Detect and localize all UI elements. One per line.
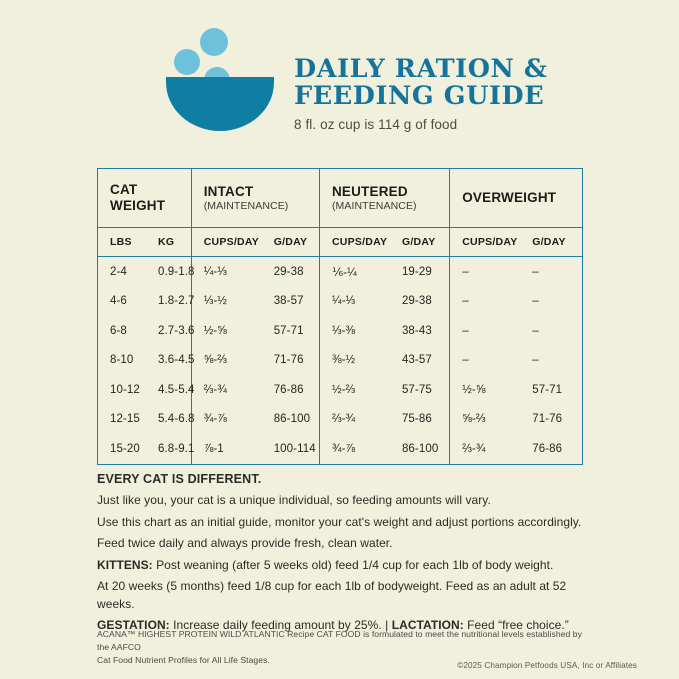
cell-intact: ⅓-½ 38-57 — [191, 287, 319, 317]
group-header-cat-weight: CAT WEIGHT — [98, 169, 191, 228]
cell-neutered: ½-⅔ 57-75 — [319, 375, 449, 405]
cell-overweight-grams: – — [532, 266, 582, 278]
cell-intact-grams: 29-38 — [274, 266, 319, 278]
cell-kg: 6.8-9.1 — [158, 443, 195, 455]
subheader-neutered: CUPS/DAY G/DAY — [319, 228, 449, 257]
cell-overweight-cups: – — [462, 354, 532, 366]
cell-neutered-cups: ¾-⅞ — [332, 443, 402, 455]
cell-kg: 5.4-6.8 — [158, 413, 195, 425]
cell-overweight-grams: 57-71 — [532, 384, 582, 396]
table-row: 10-12 4.5-5.4 ⅔-¾ 76-86 ½-⅔ 57-75 ½-⅝ 57… — [98, 375, 582, 405]
cell-overweight-cups: ½-⅝ — [462, 384, 532, 396]
table-row: 4-6 1.8-2.7 ⅓-½ 38-57 ¼-⅓ 29-38 – – — [98, 287, 582, 317]
cell-intact-cups: ¾-⅞ — [204, 413, 274, 425]
cell-overweight-grams: 71-76 — [532, 413, 582, 425]
cell-intact-cups: ⅔-¾ — [204, 384, 274, 396]
kittens-label: KITTENS: — [97, 558, 153, 572]
page-title-line-1: DAILY RATION & — [294, 56, 548, 83]
cell-intact: ½-⅝ 57-71 — [191, 316, 319, 346]
cell-intact: ¼-⅓ 29-38 — [191, 257, 319, 287]
cell-intact: ⅔-¾ 76-86 — [191, 375, 319, 405]
bubble-icon-2 — [174, 49, 200, 75]
cell-cat-weight: 12-15 5.4-6.8 — [98, 405, 191, 435]
notes-line-1: Just like you, your cat is a unique indi… — [97, 492, 589, 510]
cell-intact-grams: 100-114 — [274, 443, 319, 455]
cell-overweight: – – — [450, 346, 582, 376]
column-header-cups-day: CUPS/DAY — [332, 236, 402, 248]
cell-cat-weight: 15-20 6.8-9.1 — [98, 434, 191, 464]
cell-intact-cups: ¼-⅓ — [204, 266, 274, 278]
group-title: NEUTERED — [332, 184, 449, 200]
kittens-note: KITTENS: Post weaning (after 5 weeks old… — [97, 557, 589, 575]
bubble-icon-1 — [200, 28, 228, 56]
cell-neutered-grams: 43-57 — [402, 354, 449, 366]
cell-lbs: 10-12 — [110, 384, 158, 396]
cell-intact-cups: ⅓-½ — [204, 295, 274, 307]
cell-lbs: 8-10 — [110, 354, 158, 366]
cell-kg: 1.8-2.7 — [158, 295, 195, 307]
cell-overweight: – – — [450, 316, 582, 346]
page-subtitle: 8 fl. oz cup is 114 g of food — [294, 117, 548, 132]
column-header-cups-day: CUPS/DAY — [462, 236, 532, 248]
table-row: 6-8 2.7-3.6 ½-⅝ 57-71 ⅓-⅜ 38-43 – – — [98, 316, 582, 346]
cell-overweight-grams: – — [532, 325, 582, 337]
table-row: 15-20 6.8-9.1 ⅞-1 100-114 ¾-⅞ 86-100 ⅔-¾… — [98, 434, 582, 464]
cell-lbs: 12-15 — [110, 413, 158, 425]
cell-intact: ⅞-1 100-114 — [191, 434, 319, 464]
table-row: 2-4 0.9-1.8 ¼-⅓ 29-38 ⅙-¼ 19-29 – – — [98, 257, 582, 287]
cell-neutered: ⅔-¾ 75-86 — [319, 405, 449, 435]
notes-line-3: Feed twice daily and always provide fres… — [97, 535, 589, 553]
cell-overweight: ⅝-⅔ 71-76 — [450, 405, 582, 435]
cell-lbs: 4-6 — [110, 295, 158, 307]
cell-kg: 0.9-1.8 — [158, 266, 195, 278]
cell-overweight-cups: ⅝-⅔ — [462, 413, 532, 425]
column-header-g-day: G/DAY — [402, 236, 449, 248]
cell-cat-weight: 8-10 3.6-4.5 — [98, 346, 191, 376]
group-title-2: WEIGHT — [110, 198, 191, 214]
cat-food-bowl-icon — [160, 22, 290, 142]
cell-cat-weight: 2-4 0.9-1.8 — [98, 257, 191, 287]
cell-overweight: – – — [450, 287, 582, 317]
cell-cat-weight: 10-12 4.5-5.4 — [98, 375, 191, 405]
title-block: DAILY RATION & FEEDING GUIDE 8 fl. oz cu… — [294, 22, 548, 132]
cell-overweight-cups: – — [462, 266, 532, 278]
cell-neutered-cups: ½-⅔ — [332, 384, 402, 396]
cell-neutered-cups: ⅔-¾ — [332, 413, 402, 425]
cell-intact-grams: 71-76 — [274, 354, 319, 366]
cell-intact-cups: ½-⅝ — [204, 325, 274, 337]
table-subheader-row: LBS KG CUPS/DAY G/DAY CUPS/DAY G/DAY — [98, 228, 582, 257]
cell-neutered-cups: ⅙-¼ — [332, 265, 402, 279]
column-header-g-day: G/DAY — [532, 236, 582, 248]
kittens-note-line-2: At 20 weeks (5 months) feed 1/8 cup for … — [97, 578, 589, 613]
cell-overweight: ⅔-¾ 76-86 — [450, 434, 582, 464]
column-header-lbs: LBS — [110, 236, 158, 248]
cell-neutered-grams: 86-100 — [402, 443, 449, 455]
column-header-cups-day: CUPS/DAY — [204, 236, 274, 248]
fineprint-line-1: ACANA™ HIGHEST PROTEIN WILD ATLANTIC Rec… — [97, 628, 589, 654]
cell-neutered-grams: 29-38 — [402, 295, 449, 307]
cell-neutered: ¼-⅓ 29-38 — [319, 287, 449, 317]
cell-neutered-grams: 19-29 — [402, 266, 449, 278]
feeding-table: CAT WEIGHT INTACT (MAINTENANCE) NEUTERED… — [98, 169, 582, 464]
cell-lbs: 6-8 — [110, 325, 158, 337]
cell-intact-grams: 76-86 — [274, 384, 319, 396]
cell-overweight-cups: – — [462, 325, 532, 337]
cell-kg: 4.5-5.4 — [158, 384, 195, 396]
cell-neutered-cups: ⅓-⅜ — [332, 325, 402, 337]
table-row: 8-10 3.6-4.5 ⅝-⅔ 71-76 ⅜-½ 43-57 – – — [98, 346, 582, 376]
cell-cat-weight: 6-8 2.7-3.6 — [98, 316, 191, 346]
cell-overweight: ½-⅝ 57-71 — [450, 375, 582, 405]
cell-intact-grams: 86-100 — [274, 413, 319, 425]
cell-intact: ⅝-⅔ 71-76 — [191, 346, 319, 376]
group-title: OVERWEIGHT — [462, 190, 582, 206]
group-title: INTACT — [204, 184, 319, 200]
group-header-overweight: OVERWEIGHT — [450, 169, 582, 228]
cell-neutered: ⅜-½ 43-57 — [319, 346, 449, 376]
feeding-table-container: CAT WEIGHT INTACT (MAINTENANCE) NEUTERED… — [97, 168, 583, 465]
copyright-text: ©2025 Champion Petfoods USA, Inc or Affi… — [457, 661, 637, 670]
cell-neutered-grams: 38-43 — [402, 325, 449, 337]
group-subtitle: (MAINTENANCE) — [204, 200, 319, 212]
table-group-header-row: CAT WEIGHT INTACT (MAINTENANCE) NEUTERED… — [98, 169, 582, 228]
cell-overweight-grams: – — [532, 295, 582, 307]
cell-overweight-cups: ⅔-¾ — [462, 443, 532, 455]
cell-neutered-grams: 75-86 — [402, 413, 449, 425]
group-subtitle: (MAINTENANCE) — [332, 200, 449, 212]
cell-lbs: 15-20 — [110, 443, 158, 455]
page-title-line-2: FEEDING GUIDE — [294, 83, 548, 110]
cell-neutered: ¾-⅞ 86-100 — [319, 434, 449, 464]
group-title: CAT — [110, 182, 191, 198]
notes-line-2: Use this chart as an initial guide, moni… — [97, 514, 589, 532]
cell-neutered-cups: ⅜-½ — [332, 354, 402, 366]
notes-heading: EVERY CAT IS DIFFERENT. — [97, 472, 589, 486]
column-header-kg: KG — [158, 236, 191, 248]
table-row: 12-15 5.4-6.8 ¾-⅞ 86-100 ⅔-¾ 75-86 ⅝-⅔ 7… — [98, 405, 582, 435]
cell-intact-cups: ⅞-1 — [204, 443, 274, 455]
cell-kg: 2.7-3.6 — [158, 325, 195, 337]
subheader-cat-weight: LBS KG — [98, 228, 191, 257]
subheader-overweight: CUPS/DAY G/DAY — [450, 228, 582, 257]
cell-overweight-grams: 76-86 — [532, 443, 582, 455]
subheader-intact: CUPS/DAY G/DAY — [191, 228, 319, 257]
column-header-g-day: G/DAY — [274, 236, 319, 248]
cell-neutered-grams: 57-75 — [402, 384, 449, 396]
cell-intact-grams: 38-57 — [274, 295, 319, 307]
cell-overweight-cups: – — [462, 295, 532, 307]
group-header-intact: INTACT (MAINTENANCE) — [191, 169, 319, 228]
page-header: DAILY RATION & FEEDING GUIDE 8 fl. oz cu… — [0, 0, 679, 140]
cell-overweight-grams: – — [532, 354, 582, 366]
group-header-neutered: NEUTERED (MAINTENANCE) — [319, 169, 449, 228]
cell-overweight: – – — [450, 257, 582, 287]
cell-kg: 3.6-4.5 — [158, 354, 195, 366]
cell-cat-weight: 4-6 1.8-2.7 — [98, 287, 191, 317]
notes-section: EVERY CAT IS DIFFERENT. Just like you, y… — [97, 472, 589, 639]
cell-neutered: ⅙-¼ 19-29 — [319, 257, 449, 287]
cell-intact-grams: 57-71 — [274, 325, 319, 337]
cell-intact: ¾-⅞ 86-100 — [191, 405, 319, 435]
bowl-shape — [166, 77, 274, 131]
cell-neutered: ⅓-⅜ 38-43 — [319, 316, 449, 346]
kittens-text: Post weaning (after 5 weeks old) feed 1/… — [156, 558, 553, 572]
cell-lbs: 2-4 — [110, 266, 158, 278]
cell-intact-cups: ⅝-⅔ — [204, 354, 274, 366]
cell-neutered-cups: ¼-⅓ — [332, 295, 402, 307]
